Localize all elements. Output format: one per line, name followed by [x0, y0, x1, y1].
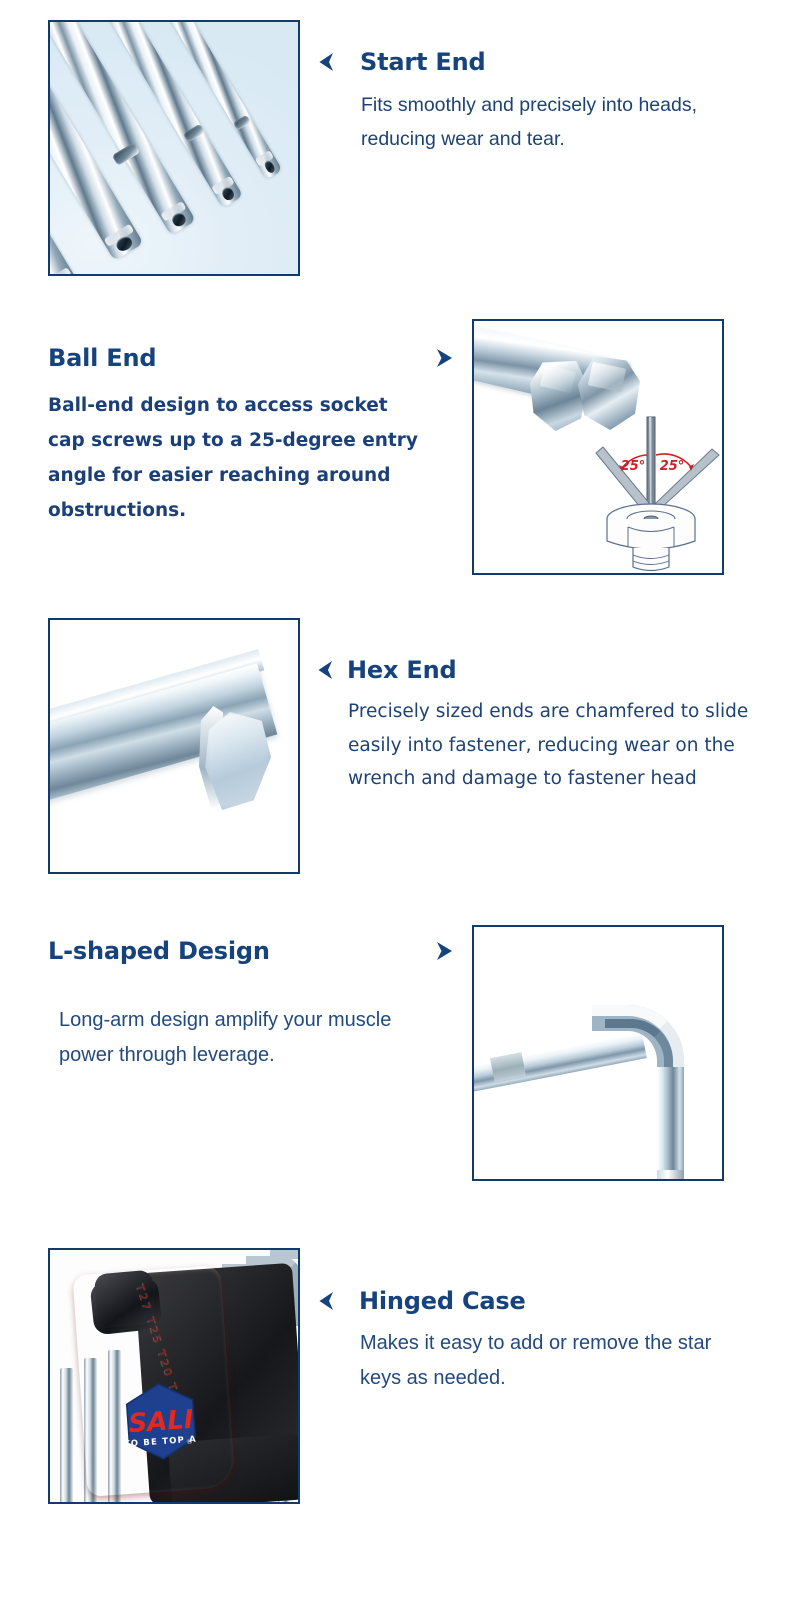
- right-triangle-icon: [432, 938, 458, 964]
- feature-description: Ball-end design to access socket cap scr…: [48, 388, 420, 529]
- feature-description: Precisely sized ends are chamfered to sl…: [348, 695, 778, 796]
- hex-end-image-frame: [48, 618, 300, 874]
- feature-infographic-page: Start End Fits smoothly and precisely in…: [0, 0, 800, 1600]
- l-shaped-image-frame: [472, 925, 724, 1181]
- feature-block-start-end: Start End Fits smoothly and precisely in…: [48, 20, 731, 276]
- left-triangle-icon: [313, 49, 339, 75]
- feature-block-l-shaped-design: L-shaped Design Long-arm design amplify …: [48, 925, 724, 1181]
- trademark-symbol: ®: [186, 1438, 194, 1446]
- feature-title: Hex End: [347, 656, 456, 684]
- l-shaped-heading-row: L-shaped Design: [48, 937, 458, 965]
- ball-end-heading-row: Ball End: [48, 344, 458, 372]
- angle-right-label: 25°: [660, 459, 685, 474]
- start-end-heading-row: Start End: [313, 48, 731, 76]
- right-triangle-icon: [432, 345, 458, 371]
- hinged-case-copy: Hinged Case Makes it easy to add or remo…: [313, 1248, 750, 1504]
- ball-end-copy: Ball End Ball-end design to access socke…: [48, 319, 458, 575]
- feature-block-ball-end: Ball End Ball-end design to access socke…: [48, 319, 724, 575]
- hinged-case-photo: T27 T25 T20 T15 T10 SALI TO BE TOP A ®: [50, 1250, 298, 1502]
- hinged-case-image-frame: T27 T25 T20 T15 T10 SALI TO BE TOP A ®: [48, 1248, 300, 1504]
- hex-end-copy: Hex End Precisely sized ends are chamfer…: [312, 618, 778, 874]
- start-end-image-frame: [48, 20, 300, 276]
- left-triangle-icon: [312, 657, 338, 683]
- feature-description: Makes it easy to add or remove the star …: [360, 1326, 750, 1396]
- feature-title: L-shaped Design: [48, 937, 270, 965]
- brand-badge: SALI TO BE TOP A ®: [119, 1379, 202, 1464]
- feature-block-hinged-case: T27 T25 T20 T15 T10 SALI TO BE TOP A ® H…: [48, 1248, 750, 1504]
- short-arm: [657, 1067, 684, 1179]
- feature-description: Fits smoothly and precisely into heads, …: [361, 88, 731, 156]
- hinged-case-heading-row: Hinged Case: [313, 1287, 750, 1315]
- feature-block-hex-end: Hex End Precisely sized ends are chamfer…: [48, 618, 778, 874]
- brand-name: SALI: [127, 1405, 194, 1439]
- feature-title: Start End: [360, 48, 485, 76]
- ball-end-photo: 25° 25°: [474, 321, 722, 573]
- hex-end-heading-row: Hex End: [312, 656, 778, 684]
- star-key-ends-photo: [50, 22, 298, 274]
- key-shaft: [60, 1368, 73, 1502]
- angle-left-label: 25°: [621, 459, 646, 474]
- left-triangle-icon: [313, 1288, 339, 1314]
- ball-end-image-frame: 25° 25°: [472, 319, 724, 575]
- l-shaped-copy: L-shaped Design Long-arm design amplify …: [48, 925, 458, 1181]
- l-shaped-key-photo: [474, 927, 722, 1179]
- feature-title: Ball End: [48, 344, 156, 372]
- feature-title: Hinged Case: [359, 1287, 526, 1315]
- start-end-copy: Start End Fits smoothly and precisely in…: [313, 20, 731, 276]
- entry-angle-diagram: 25° 25°: [592, 415, 722, 575]
- short-arm-tip: [657, 1170, 684, 1181]
- feature-description: Long-arm design amplify your muscle powe…: [59, 1003, 451, 1073]
- hex-end-photo: [50, 620, 298, 872]
